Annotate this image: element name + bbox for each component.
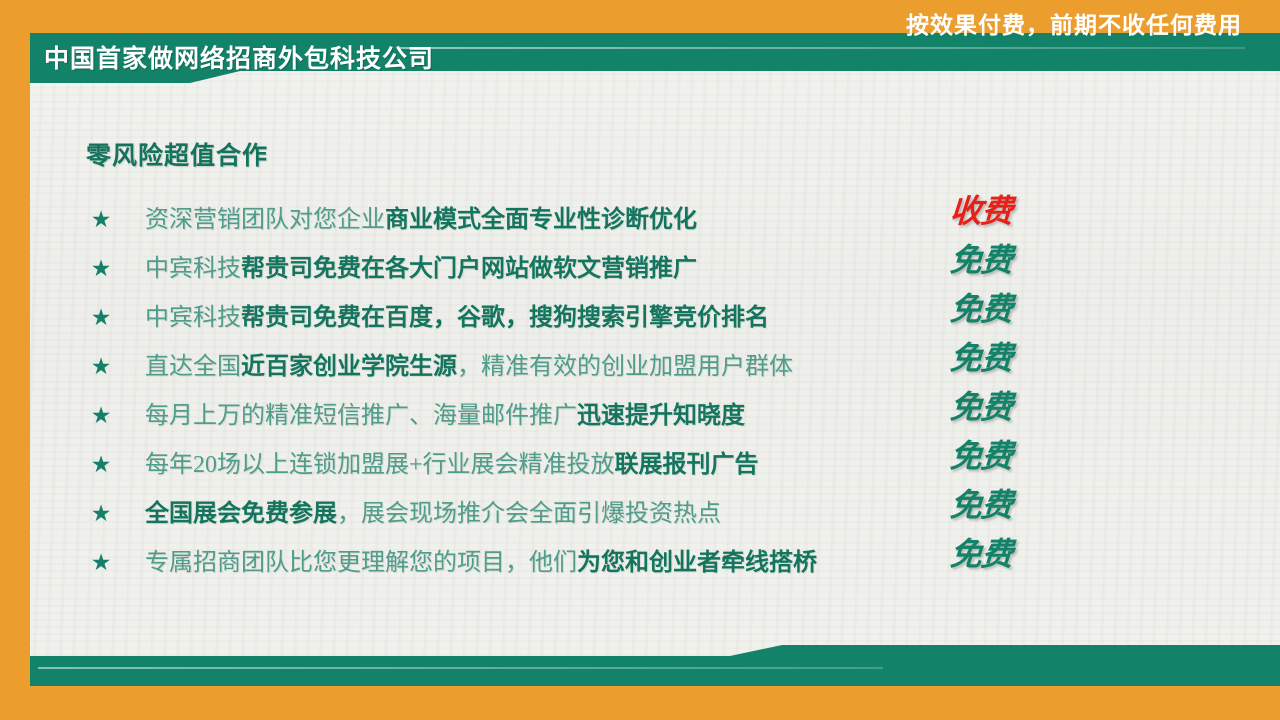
price-badge-label: 免费 bbox=[949, 437, 1014, 475]
benefit-text-emphasis: 迅速提升知晓度 bbox=[577, 403, 745, 429]
list-item: ★专属招商团队比您更理解您的项目，他们为您和创业者牵线搭桥 bbox=[86, 541, 1086, 590]
price-column: 收费免费免费免费免费免费免费免费 bbox=[950, 192, 1070, 584]
star-icon: ★ bbox=[90, 209, 112, 231]
benefit-text-normal-tail: ，展会现场推介会全面引爆投资热点 bbox=[337, 501, 721, 527]
price-badge: 免费 bbox=[950, 241, 1070, 290]
benefit-text-emphasis: 商业模式全面专业性诊断优化 bbox=[385, 207, 697, 233]
star-icon: ★ bbox=[90, 454, 112, 476]
star-icon: ★ bbox=[90, 552, 112, 574]
price-badge-label: 免费 bbox=[949, 388, 1014, 426]
price-badge: 免费 bbox=[950, 535, 1070, 584]
benefit-text: 每年20场以上连锁加盟展+行业展会精准投放联展报刊广告 bbox=[145, 449, 759, 481]
benefit-text-emphasis: 为您和创业者牵线搭桥 bbox=[577, 550, 817, 576]
price-badge-label: 免费 bbox=[949, 339, 1014, 377]
star-icon: ★ bbox=[90, 405, 112, 427]
slide-root: 中国首家做网络招商外包科技公司 零风险超值合作 ★资深营销团队对您企业商业模式全… bbox=[0, 0, 1280, 720]
benefit-text-normal: 资深营销团队对您企业 bbox=[145, 207, 385, 233]
price-badge: 免费 bbox=[950, 290, 1070, 339]
benefit-text-normal-tail: ，精准有效的创业加盟用户群体 bbox=[457, 354, 793, 380]
benefit-text-emphasis: 联展报刊广告 bbox=[615, 452, 759, 478]
price-badge: 免费 bbox=[950, 437, 1070, 486]
list-item: ★中宾科技帮贵司免费在各大门户网站做软文营销推广 bbox=[86, 247, 1086, 296]
benefit-text-normal: 直达全国 bbox=[145, 354, 241, 380]
list-item: ★中宾科技帮贵司免费在百度，谷歌，搜狗搜索引擎竞价排名 bbox=[86, 296, 1086, 345]
price-badge-label: 收费 bbox=[949, 192, 1014, 230]
benefit-text-normal: 专属招商团队比您更理解您的项目，他们 bbox=[145, 550, 577, 576]
star-icon: ★ bbox=[90, 356, 112, 378]
benefit-text-normal: 中宾科技 bbox=[145, 256, 241, 282]
price-badge-label: 免费 bbox=[949, 535, 1014, 573]
star-icon: ★ bbox=[90, 307, 112, 329]
benefit-text: 中宾科技帮贵司免费在各大门户网站做软文营销推广 bbox=[145, 253, 697, 285]
list-item: ★直达全国近百家创业学院生源，精准有效的创业加盟用户群体 bbox=[86, 345, 1086, 394]
list-item: ★全国展会免费参展，展会现场推介会全面引爆投资热点 bbox=[86, 492, 1086, 541]
header-title: 中国首家做网络招商外包科技公司 bbox=[44, 39, 434, 75]
benefit-text: 每月上万的精准短信推广、海量邮件推广迅速提升知晓度 bbox=[145, 400, 745, 432]
list-item: ★每月上万的精准短信推广、海量邮件推广迅速提升知晓度 bbox=[86, 394, 1086, 443]
benefit-text: 直达全国近百家创业学院生源，精准有效的创业加盟用户群体 bbox=[145, 351, 793, 383]
benefit-text-normal: 每月上万的精准短信推广、海量邮件推广 bbox=[145, 403, 577, 429]
price-badge-label: 免费 bbox=[949, 486, 1014, 524]
star-icon: ★ bbox=[90, 258, 112, 280]
benefit-text-emphasis: 全国展会免费参展 bbox=[145, 501, 337, 527]
header-hairline-divider bbox=[400, 47, 1245, 49]
benefit-text-emphasis: 帮贵司免费在各大门户网站做软文营销推广 bbox=[241, 256, 697, 282]
list-item: ★资深营销团队对您企业商业模式全面专业性诊断优化 bbox=[86, 198, 1086, 247]
page-title: 零风险超值合作 bbox=[86, 136, 268, 172]
price-badge-label: 免费 bbox=[949, 241, 1014, 279]
list-item: ★每年20场以上连锁加盟展+行业展会精准投放联展报刊广告 bbox=[86, 443, 1086, 492]
price-badge: 免费 bbox=[950, 388, 1070, 437]
price-badge: 免费 bbox=[950, 486, 1070, 535]
benefit-text-normal: 每年20场以上连锁加盟展+行业展会精准投放 bbox=[145, 452, 615, 478]
benefit-text-emphasis: 近百家创业学院生源 bbox=[241, 354, 457, 380]
footer-tagline: 按效果付费，前期不收任何费用 bbox=[906, 6, 1242, 40]
benefit-text: 中宾科技帮贵司免费在百度，谷歌，搜狗搜索引擎竞价排名 bbox=[145, 302, 769, 334]
price-badge-label: 免费 bbox=[949, 290, 1014, 328]
benefit-text: 资深营销团队对您企业商业模式全面专业性诊断优化 bbox=[145, 204, 697, 236]
star-icon: ★ bbox=[90, 503, 112, 525]
price-badge: 收费 bbox=[950, 192, 1070, 241]
benefit-text-emphasis: 帮贵司免费在百度，谷歌，搜狗搜索引擎竞价排名 bbox=[241, 305, 769, 331]
benefits-list: ★资深营销团队对您企业商业模式全面专业性诊断优化★中宾科技帮贵司免费在各大门户网… bbox=[86, 198, 1086, 590]
benefit-text-normal: 中宾科技 bbox=[145, 305, 241, 331]
price-badge: 免费 bbox=[950, 339, 1070, 388]
footer-hairline-divider bbox=[38, 667, 883, 669]
benefit-text: 专属招商团队比您更理解您的项目，他们为您和创业者牵线搭桥 bbox=[145, 547, 817, 579]
benefit-text: 全国展会免费参展，展会现场推介会全面引爆投资热点 bbox=[145, 498, 721, 530]
